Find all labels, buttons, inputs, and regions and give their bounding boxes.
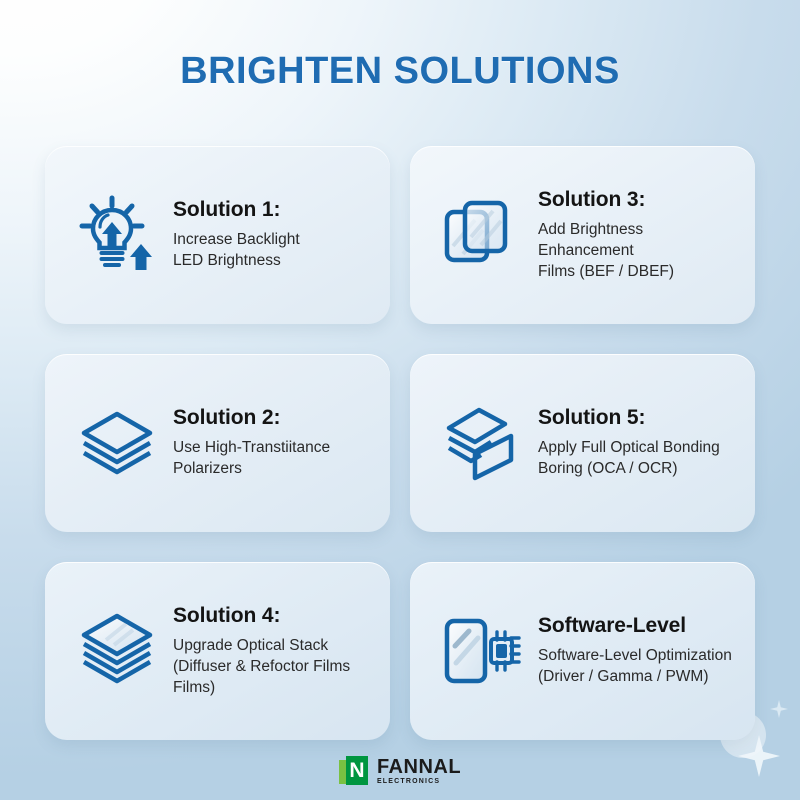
solution-card-1-text: Solution 1: Increase Backlight LED Brigh… bbox=[169, 198, 372, 272]
lightbulb-arrow-icon bbox=[65, 183, 169, 287]
poster-page: BRIGHTEN SOLUTIONS bbox=[0, 0, 800, 800]
solution-card-software-title: Software-Level bbox=[538, 614, 737, 637]
solution-card-5-title: Solution 5: bbox=[538, 406, 737, 429]
optical-stack-icon bbox=[65, 599, 169, 703]
solutions-grid: Solution 1: Increase Backlight LED Brigh… bbox=[45, 146, 755, 740]
solution-card-4[interactable]: Solution 4: Upgrade Optical Stack (Diffu… bbox=[45, 562, 390, 740]
solution-card-software-text: Software-Level Software-Level Optimizati… bbox=[534, 614, 737, 688]
solution-card-2[interactable]: Solution 2: Use High-Transtiitance Polar… bbox=[45, 354, 390, 532]
logo-letter: N bbox=[346, 756, 368, 785]
solution-card-1-desc: Increase Backlight LED Brightness bbox=[173, 230, 372, 272]
solution-card-2-desc: Use High-Transtiitance Polarizers bbox=[173, 438, 372, 480]
solution-card-4-desc: Upgrade Optical Stack (Diffuser & Refoct… bbox=[173, 636, 372, 699]
page-title-container: BRIGHTEN SOLUTIONS bbox=[0, 50, 800, 93]
brand-subtitle: ELECTRONICS bbox=[377, 778, 461, 785]
page-title: BRIGHTEN SOLUTIONS bbox=[0, 50, 800, 93]
brand-text: FANNAL ELECTRONICS bbox=[377, 757, 461, 785]
solution-card-5-text: Solution 5: Apply Full Optical Bonding B… bbox=[534, 406, 737, 480]
solution-card-3[interactable]: Solution 3: Add Brightness Enhancement F… bbox=[410, 146, 755, 324]
solution-card-software[interactable]: Software-Level Software-Level Optimizati… bbox=[410, 562, 755, 740]
solution-card-1-title: Solution 1: bbox=[173, 198, 372, 221]
solution-card-software-desc: Software-Level Optimization (Driver / Ga… bbox=[538, 646, 737, 688]
solution-card-2-title: Solution 2: bbox=[173, 406, 372, 429]
bonding-layers-icon bbox=[430, 391, 534, 495]
sparkle-small-icon bbox=[770, 700, 788, 718]
solution-card-5-desc: Apply Full Optical Bonding Boring (OCA /… bbox=[538, 438, 737, 480]
solution-card-4-title: Solution 4: bbox=[173, 604, 372, 627]
footer-branding: N FANNAL ELECTRONICS bbox=[0, 756, 800, 786]
solution-card-3-title: Solution 3: bbox=[538, 188, 737, 211]
solution-card-1[interactable]: Solution 1: Increase Backlight LED Brigh… bbox=[45, 146, 390, 324]
stacked-layers-icon bbox=[65, 391, 169, 495]
solution-card-2-text: Solution 2: Use High-Transtiitance Polar… bbox=[169, 406, 372, 480]
display-chip-icon bbox=[430, 599, 534, 703]
brand-name: FANNAL bbox=[377, 757, 461, 777]
overlapping-films-icon bbox=[430, 183, 534, 287]
fannal-logo-icon: N bbox=[339, 756, 369, 786]
solution-card-4-text: Solution 4: Upgrade Optical Stack (Diffu… bbox=[169, 604, 372, 699]
solution-card-3-desc: Add Brightness Enhancement Films (BEF / … bbox=[538, 220, 737, 283]
solution-card-5[interactable]: Solution 5: Apply Full Optical Bonding B… bbox=[410, 354, 755, 532]
solution-card-3-text: Solution 3: Add Brightness Enhancement F… bbox=[534, 188, 737, 283]
